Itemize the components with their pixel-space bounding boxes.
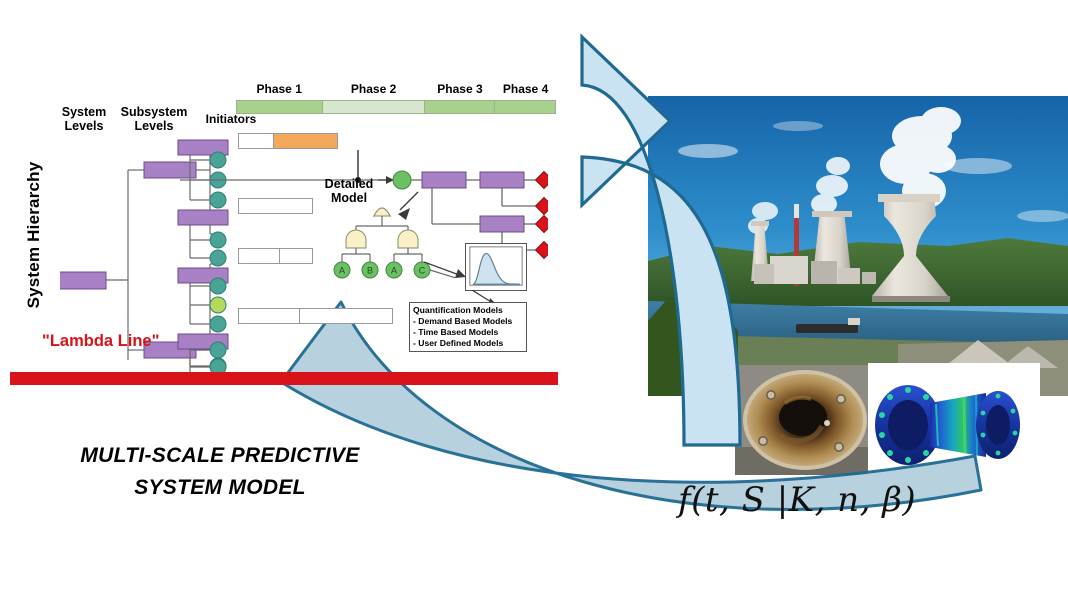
timeline-segment: [300, 309, 392, 323]
quantification-models-box: Quantification Models - Demand Based Mod…: [409, 302, 527, 352]
phase-label: Phase 1: [236, 82, 322, 98]
phase-segment: [425, 101, 495, 113]
phase-segments: [236, 100, 556, 114]
phase-label: Phase 3: [425, 82, 495, 98]
corroded-pipe-photo: [735, 365, 875, 475]
caption-line-2: SYSTEM MODEL: [30, 472, 410, 504]
timeline-segment: [239, 309, 300, 323]
phase-segment: [323, 101, 425, 113]
system-levels-label: System Levels: [48, 105, 120, 134]
initiator-timeline-3: [238, 248, 313, 264]
system-hierarchy-label: System Hierarchy: [24, 135, 50, 335]
quantification-link-arrow: [424, 258, 472, 284]
quantification-list: - Demand Based Models- Time Based Models…: [413, 316, 523, 349]
basic-event-label: A: [339, 266, 345, 276]
quantification-item: - Time Based Models: [413, 327, 523, 338]
phase-label: Phase 2: [322, 82, 424, 98]
basic-event-label: A: [391, 266, 397, 276]
distribution-plot: [465, 243, 527, 291]
lambda-line-label: "Lambda Line": [42, 332, 159, 351]
initiator-timeline-4: [238, 308, 393, 324]
quantification-heading: Quantification Models: [413, 305, 523, 316]
basic-event-label: B: [367, 266, 373, 276]
fea-pipe-model: [868, 363, 1040, 478]
initiators-label: Initiators: [193, 113, 269, 127]
phase-labels: Phase 1Phase 2Phase 3Phase 4: [236, 82, 556, 98]
quantification-item: - Demand Based Models: [413, 316, 523, 327]
subsystem-levels-label: Subsystem Levels: [112, 105, 196, 134]
nuclear-power-plant-photo: [648, 96, 1068, 396]
phase-bar: Phase 1Phase 2Phase 3Phase 4: [236, 82, 556, 116]
phase-segment: [495, 101, 555, 113]
timeline-segment: [274, 134, 337, 148]
formula-label: f(t, S |K, n, β): [678, 480, 978, 520]
initiator-timeline-1: [238, 133, 338, 149]
detailed-model-label: Detailed Model: [312, 177, 386, 206]
phase-label: Phase 4: [495, 82, 556, 98]
timeline-segment: [280, 249, 312, 263]
figure-caption: MULTI-SCALE PREDICTIVE SYSTEM MODEL: [30, 440, 410, 503]
quantification-item: - User Defined Models: [413, 338, 523, 349]
figure-canvas: Phase 1Phase 2Phase 3Phase 4: [0, 0, 1068, 601]
caption-line-1: MULTI-SCALE PREDICTIVE: [30, 440, 410, 472]
timeline-segment: [239, 134, 274, 148]
lambda-line: [10, 372, 558, 385]
timeline-segment: [239, 249, 280, 263]
